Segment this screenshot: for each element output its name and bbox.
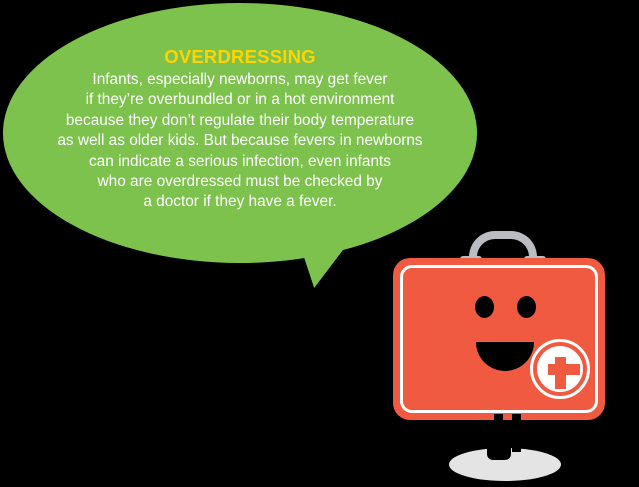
callout-body-line-6: who are overdressed must be checked by (3, 172, 477, 192)
medical-cross-badge (530, 339, 590, 399)
cross-badge-disc (537, 346, 583, 392)
kit-eye-left (475, 296, 494, 318)
kit-leg-right (512, 414, 521, 426)
callout-body-line-2: if they’re overbundled or in a hot envir… (3, 90, 477, 110)
callout-body-line-5: can indicate a serious infection, even i… (3, 152, 477, 172)
kit-eye-right (517, 296, 536, 318)
callout-body-line-7: a doctor if they have a fever. (3, 192, 477, 212)
callout-body-line-4: as well as older kids. But because fever… (3, 131, 477, 151)
callout-body-line-3: because they don’t regulate their body t… (3, 111, 477, 131)
shadow-notch (487, 444, 511, 460)
cross-horizontal-bar (548, 364, 580, 375)
callout-body-line-1: Infants, especially newborns, may get fe… (3, 70, 477, 90)
kit-body (393, 258, 605, 420)
speech-bubble-text: OVERDRESSING Infants, especially newborn… (3, 45, 477, 213)
illustration-canvas: OVERDRESSING Infants, especially newborn… (0, 0, 639, 487)
callout-heading: OVERDRESSING (3, 45, 477, 69)
speech-bubble: OVERDRESSING Infants, especially newborn… (3, 3, 477, 263)
kit-leg-left (494, 414, 503, 426)
